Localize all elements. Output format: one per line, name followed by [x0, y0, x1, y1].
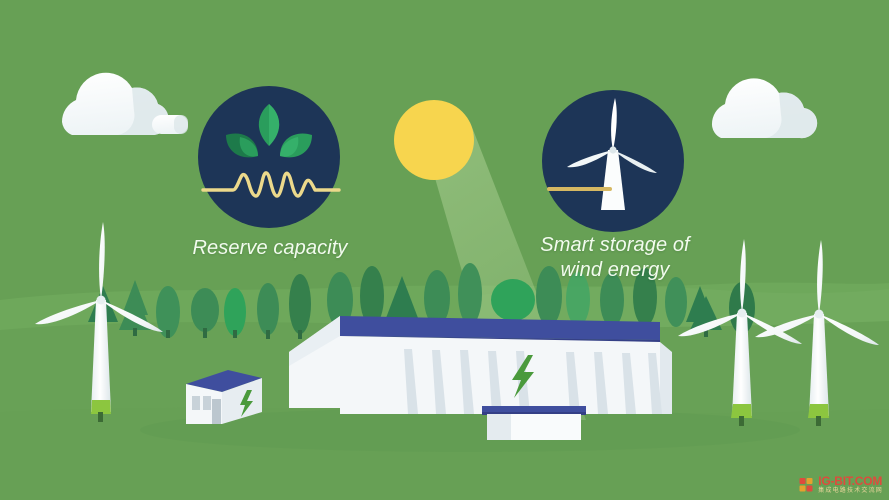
reserve-capacity-badge[interactable] [198, 86, 340, 228]
badge-baseline [547, 187, 612, 191]
watermark: IG-BIT.COM 集成电路技术交流网 [799, 475, 883, 494]
label-smart-storage: Smart storage of wind energy [515, 233, 715, 283]
illustration-canvas: Reserve capacity Smart storage of wind e… [0, 0, 889, 500]
watermark-main-text: IG-BIT.COM [818, 475, 883, 487]
smart-storage-badge[interactable] [542, 90, 684, 232]
label-reserve-capacity: Reserve capacity [180, 236, 360, 261]
watermark-sub-text: 集成电路技术交流网 [818, 488, 883, 494]
badges-layer [0, 0, 889, 500]
watermark-logo-icon [799, 477, 815, 493]
